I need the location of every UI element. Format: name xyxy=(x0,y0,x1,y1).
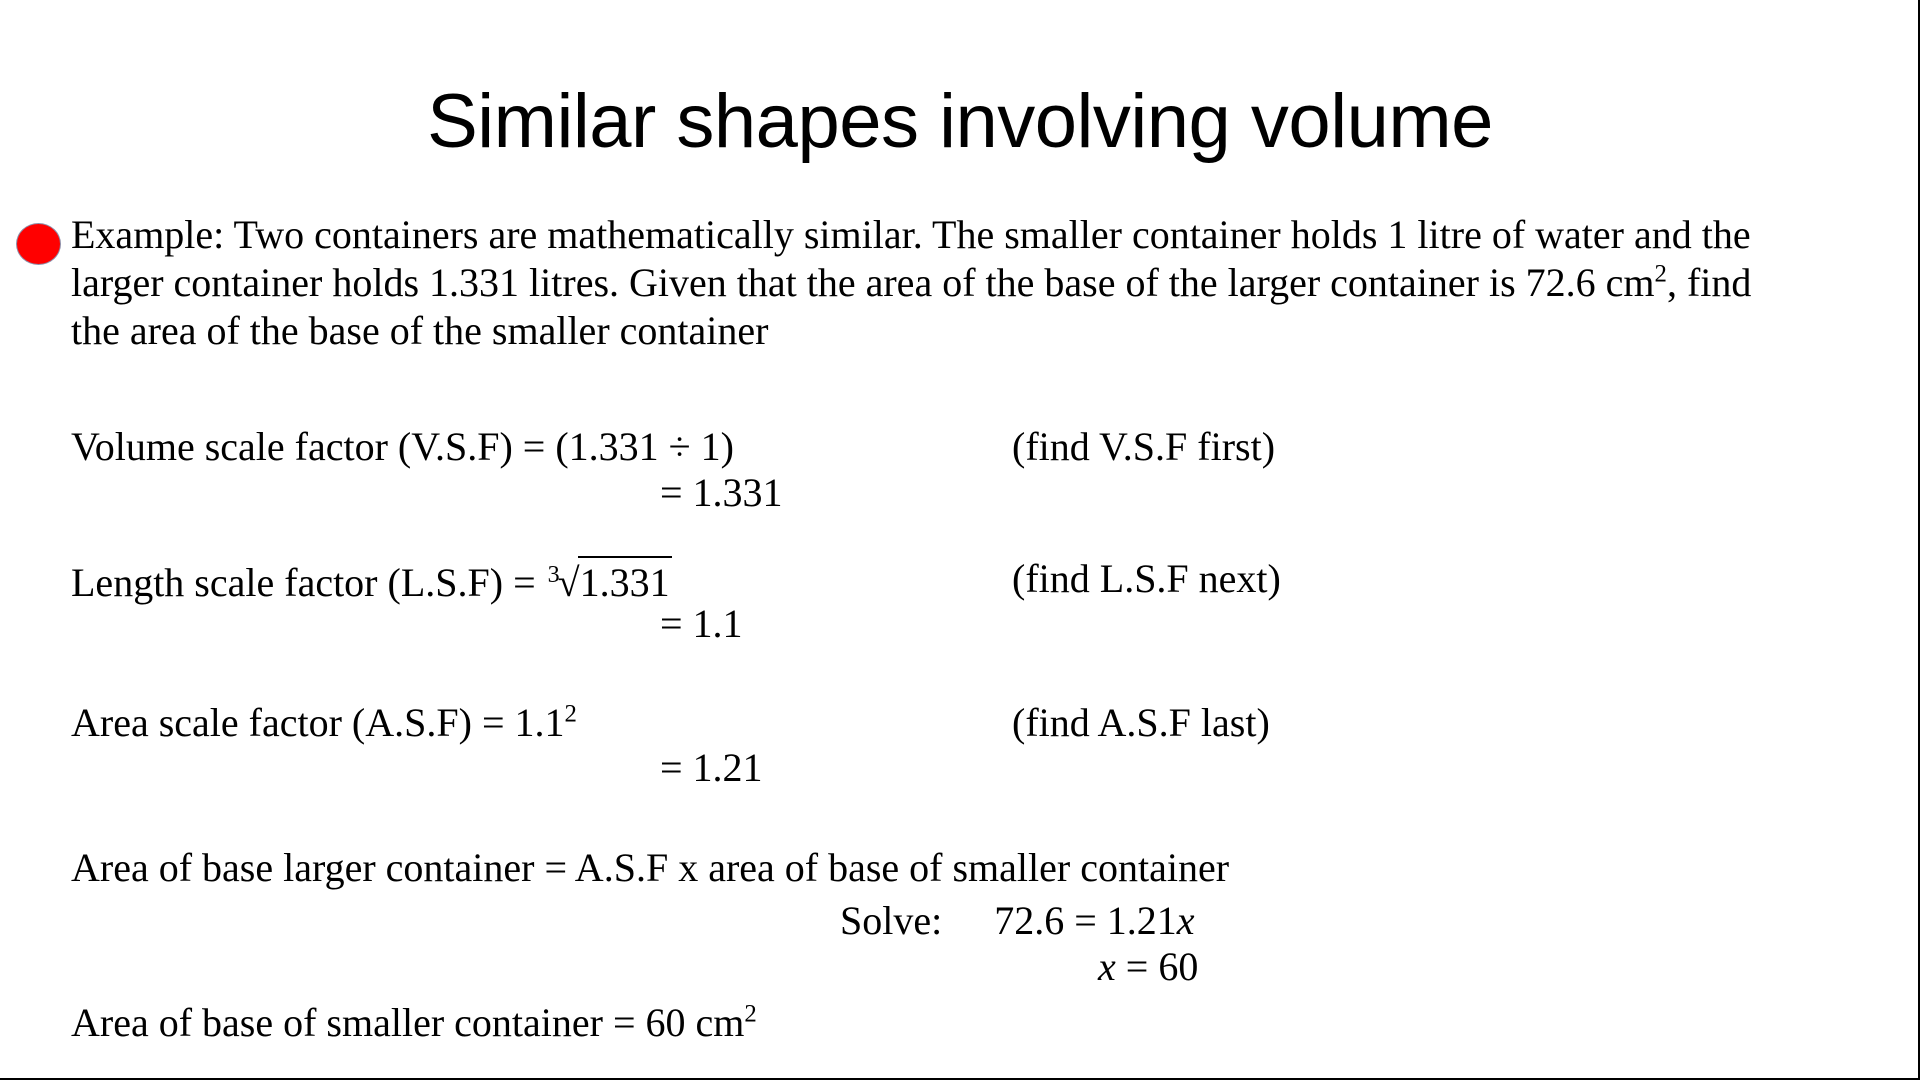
radicand-value: 1.331 xyxy=(578,556,672,606)
example-paragraph-part-1: Example: Two containers are mathematical… xyxy=(71,212,1751,305)
example-paragraph-superscript: 2 xyxy=(1655,261,1667,288)
area-scale-factor-note: (find A.S.F last) xyxy=(1012,700,1270,746)
radical-sign-icon: √ xyxy=(558,560,580,605)
area-scale-factor-statement: Area scale factor (A.S.F) = 1.12 xyxy=(71,700,577,746)
page-title: Similar shapes involving volume xyxy=(0,78,1920,166)
solve-label: Solve: xyxy=(840,898,942,943)
area-relation-equation: Area of base larger container = A.S.F x … xyxy=(71,845,1229,891)
example-paragraph: Example: Two containers are mathematical… xyxy=(71,211,1801,355)
area-scale-factor-exponent: 2 xyxy=(565,701,577,728)
length-scale-factor-label: Length scale factor (L.S.F) = xyxy=(71,560,546,605)
volume-scale-factor-statement: Volume scale factor (V.S.F) = (1.331 ÷ 1… xyxy=(71,424,734,470)
solve-equation-variable: x xyxy=(1177,898,1195,943)
solve-equation-line: Solve:72.6 = 1.21x xyxy=(840,898,1195,944)
final-answer-line: Area of base of smaller container = 60 c… xyxy=(71,1000,757,1046)
solve-answer-value: = 60 xyxy=(1116,944,1199,989)
length-scale-factor-note: (find L.S.F next) xyxy=(1012,556,1281,602)
solve-equation: 72.6 = 1.21 xyxy=(994,898,1177,943)
solve-answer-variable: x xyxy=(1098,944,1116,989)
bullet-dot-icon xyxy=(17,224,60,264)
slide-canvas: Similar shapes involving volume Example:… xyxy=(0,0,1920,1080)
volume-scale-factor-result: = 1.331 xyxy=(660,470,783,516)
area-scale-factor-label: Area scale factor (A.S.F) = 1.1 xyxy=(71,700,565,745)
volume-scale-factor-note: (find V.S.F first) xyxy=(1012,424,1275,470)
cube-root-expression: 3√1.331 xyxy=(546,556,672,606)
length-scale-factor-result: = 1.1 xyxy=(660,601,743,647)
final-answer-superscript: 2 xyxy=(744,1001,756,1028)
area-scale-factor-result: = 1.21 xyxy=(660,745,763,791)
length-scale-factor-statement: Length scale factor (L.S.F) = 3√1.331 xyxy=(71,556,672,606)
solve-answer-line: x = 60 xyxy=(1098,944,1198,990)
final-answer-text: Area of base of smaller container = 60 c… xyxy=(71,1000,744,1045)
